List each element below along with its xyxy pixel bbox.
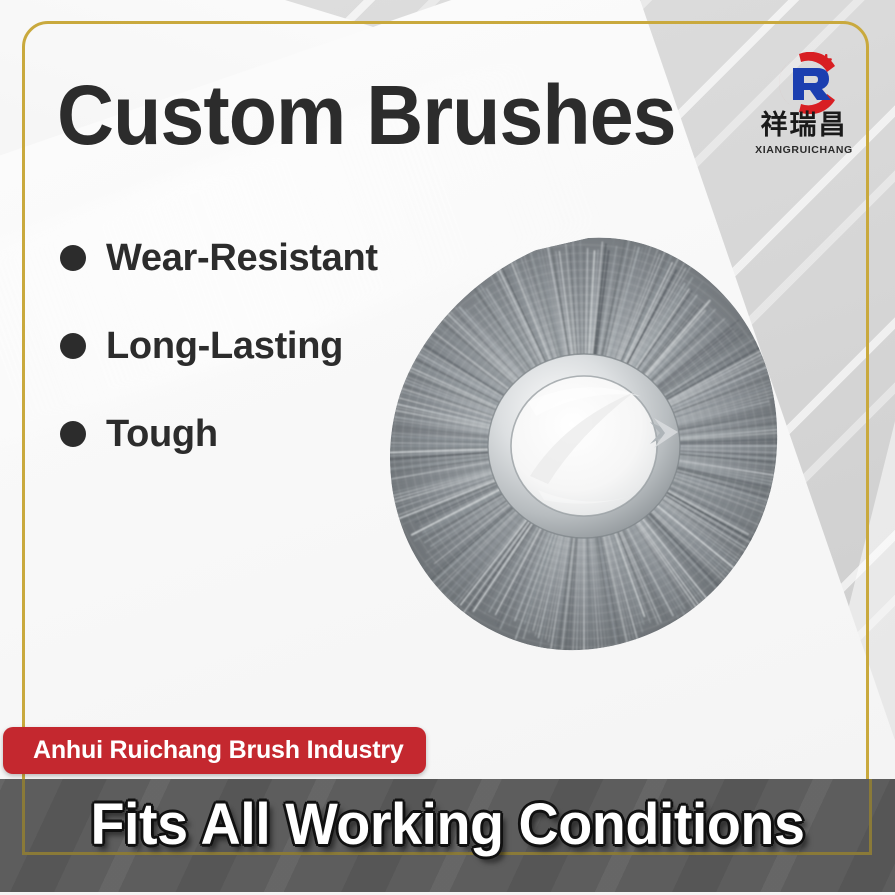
- feature-label: Long-Lasting: [106, 325, 343, 368]
- bullet-dot-icon: [60, 421, 86, 447]
- footer-tagline: Fits All Working Conditions: [18, 791, 877, 858]
- company-badge: Anhui Ruichang Brush Industry: [3, 727, 426, 774]
- logo-pinyin: XIANGRUICHANG: [743, 144, 865, 156]
- brand-logo: 祥瑞昌 XIANGRUICHANG: [743, 52, 865, 172]
- feature-label: Wear-Resistant: [106, 237, 378, 280]
- feature-label: Tough: [106, 413, 218, 456]
- footer-banner: Fits All Working Conditions: [0, 779, 895, 895]
- logo-cr-mark: [749, 52, 859, 114]
- promo-poster: Custom Brushes 祥瑞昌 XIANGRUICHANG Wear-Re…: [0, 0, 895, 895]
- page-title: Custom Brushes: [57, 73, 676, 157]
- company-name: Anhui Ruichang Brush Industry: [33, 736, 404, 765]
- logo-chinese-name: 祥瑞昌: [743, 112, 865, 140]
- bullet-dot-icon: [60, 245, 86, 271]
- bullet-dot-icon: [60, 333, 86, 359]
- product-image-disc-brush: [378, 222, 798, 672]
